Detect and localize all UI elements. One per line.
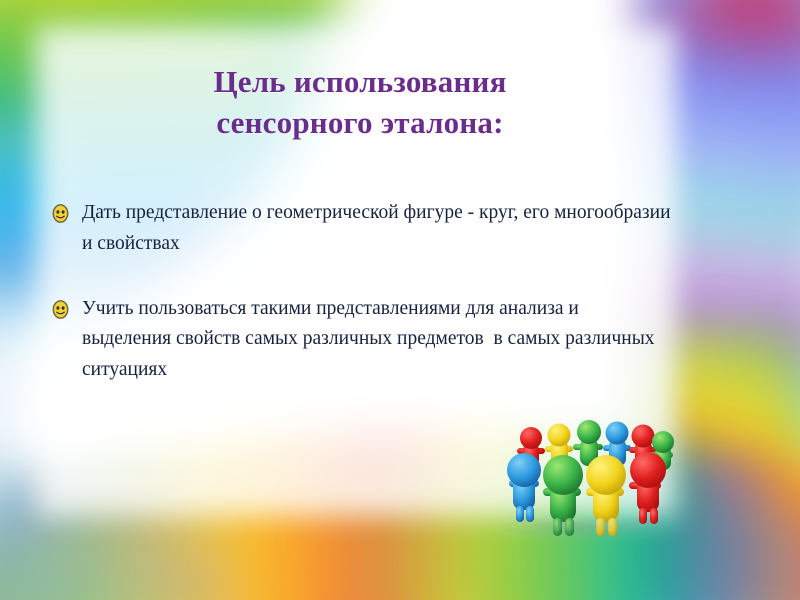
slide-title: Цель использования сенсорного эталона:	[60, 62, 660, 144]
smiley-face-bullet-icon	[52, 300, 69, 319]
slide-title-line-2: сенсорного эталона:	[60, 103, 660, 144]
bullet-list: Дать представление о геометрической фигу…	[52, 198, 672, 420]
bullet-item-2: Учить пользоваться такими представлениям…	[52, 294, 672, 386]
bullet-item-1: Дать представление о геометрической фигу…	[52, 198, 672, 260]
bullet-text-2: Учить пользоваться такими представлениям…	[82, 294, 672, 386]
bullet-text-1: Дать представление о геометрической фигу…	[82, 198, 672, 260]
figurines-ground-shadow	[501, 514, 669, 540]
slide-canvas: Цель использования сенсорного эталона: Д…	[0, 0, 800, 600]
circle-of-figurines-illustration	[487, 418, 683, 546]
slide-title-line-1: Цель использования	[60, 62, 660, 103]
smiley-face-bullet-icon	[52, 204, 69, 223]
figurine-front-blue-left	[507, 453, 541, 522]
